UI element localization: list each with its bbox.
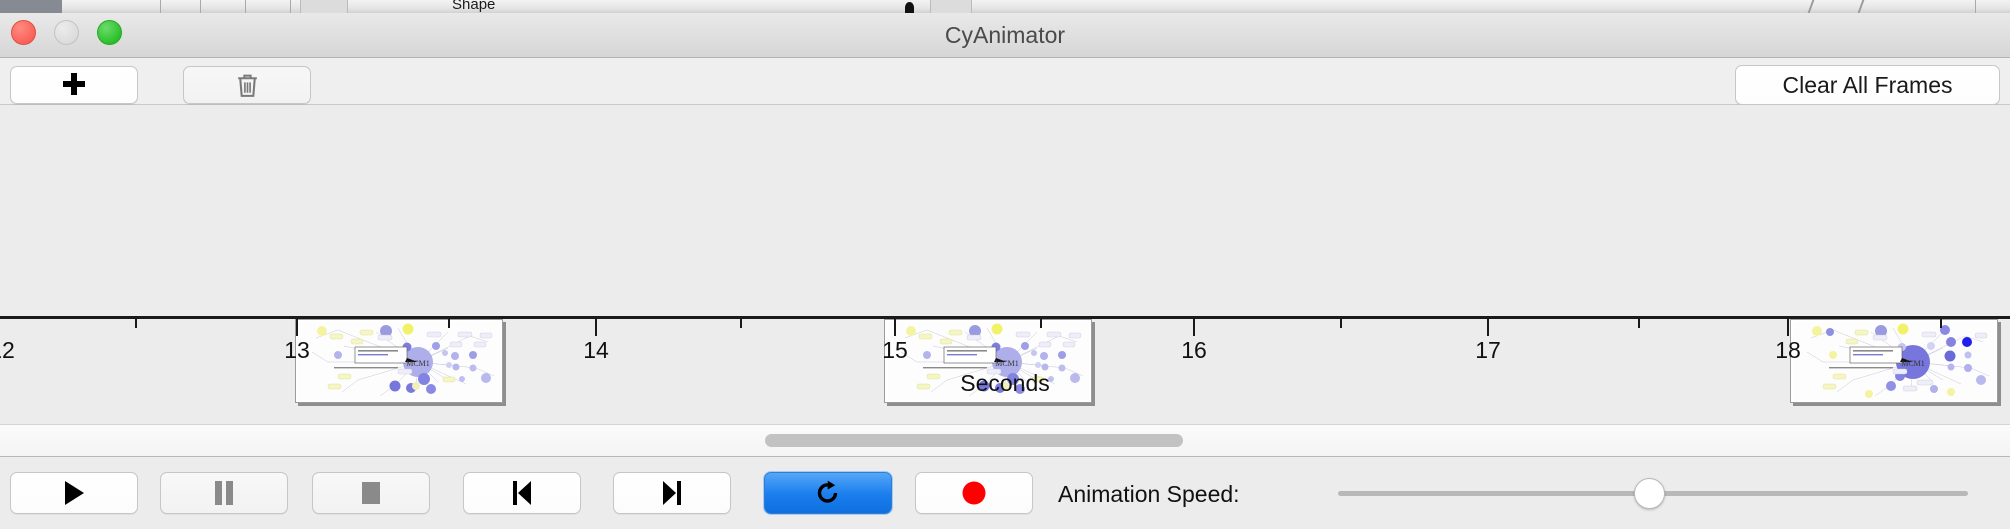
axis-title: Seconds xyxy=(0,370,2010,397)
delete-frame-button[interactable] xyxy=(183,66,311,104)
background-slash xyxy=(1858,0,1875,13)
background-slash xyxy=(1808,0,1825,13)
background-window-label: Shape xyxy=(452,0,495,13)
background-panel xyxy=(930,0,972,13)
axis-tick xyxy=(1940,319,1942,328)
background-window-strip: Shape xyxy=(0,0,2010,13)
skip-start-icon xyxy=(510,480,534,506)
plus-icon xyxy=(61,71,87,97)
timeline-panel[interactable]: MCM1 xyxy=(0,105,2010,425)
play-button[interactable] xyxy=(10,472,138,514)
transport-bar: Animation Speed: xyxy=(0,457,2010,529)
axis-tick xyxy=(1040,319,1042,328)
background-tick xyxy=(160,0,161,13)
timeline-scrollbar[interactable] xyxy=(0,425,2010,457)
axis-tick xyxy=(1340,319,1342,328)
loop-icon xyxy=(815,480,841,506)
axis-tick-label: 15 xyxy=(882,337,908,364)
add-frame-button[interactable] xyxy=(10,66,138,104)
axis-tick-label: 13 xyxy=(284,337,310,364)
background-cursor-glyph xyxy=(905,2,914,13)
stop-button[interactable] xyxy=(312,472,430,514)
skip-end-icon xyxy=(660,480,684,506)
toolbar: Clear All Frames xyxy=(0,58,2010,105)
axis-tick xyxy=(1193,319,1195,336)
axis-tick-label: 16 xyxy=(1181,337,1207,364)
title-bar: CyAnimator xyxy=(0,13,2010,58)
skip-to-end-button[interactable] xyxy=(613,472,731,514)
cyanimator-window: CyAnimator Clear All Frame xyxy=(0,13,2010,510)
axis-tick xyxy=(894,319,896,336)
pause-button[interactable] xyxy=(160,472,288,514)
axis-tick xyxy=(448,319,450,328)
background-panel xyxy=(300,0,348,13)
window-title: CyAnimator xyxy=(0,22,2010,49)
background-tick xyxy=(1975,0,1976,13)
record-button[interactable] xyxy=(915,472,1033,514)
axis-tick xyxy=(595,319,597,336)
animation-speed-slider-thumb[interactable] xyxy=(1634,478,1665,509)
background-tick xyxy=(200,0,201,13)
axis-tick xyxy=(296,319,298,336)
frame-graph-center-label: MCM1 xyxy=(995,359,1019,368)
clear-all-frames-button[interactable]: Clear All Frames xyxy=(1735,65,2000,105)
axis-tick xyxy=(1787,319,1789,336)
stop-icon xyxy=(360,481,382,505)
axis-tick xyxy=(740,319,742,328)
background-tick xyxy=(245,0,246,13)
axis-tick xyxy=(1487,319,1489,336)
scrollbar-thumb[interactable] xyxy=(765,434,1183,447)
axis-tick-label: 18 xyxy=(1775,337,1801,364)
axis-tick xyxy=(1638,319,1640,328)
frame-graph-center-label: MCM1 xyxy=(406,359,430,368)
play-icon xyxy=(62,480,86,506)
skip-to-start-button[interactable] xyxy=(463,472,581,514)
background-tick xyxy=(290,0,291,13)
axis-tick xyxy=(135,319,137,328)
axis-tick-label: 17 xyxy=(1475,337,1501,364)
animation-speed-slider[interactable] xyxy=(1338,491,1968,496)
timeline-axis xyxy=(0,316,2010,319)
frame-graph-center-label: MCM1 xyxy=(1901,359,1925,368)
loop-button[interactable] xyxy=(764,472,892,514)
background-window-sidebar xyxy=(0,0,62,13)
record-icon xyxy=(961,480,987,506)
axis-tick-label: 14 xyxy=(583,337,609,364)
pause-icon xyxy=(213,480,235,506)
clear-all-frames-label: Clear All Frames xyxy=(1783,72,1953,99)
axis-tick-label: 12 xyxy=(0,337,15,364)
animation-speed-label: Animation Speed: xyxy=(1058,481,1240,508)
trash-icon xyxy=(235,72,260,99)
